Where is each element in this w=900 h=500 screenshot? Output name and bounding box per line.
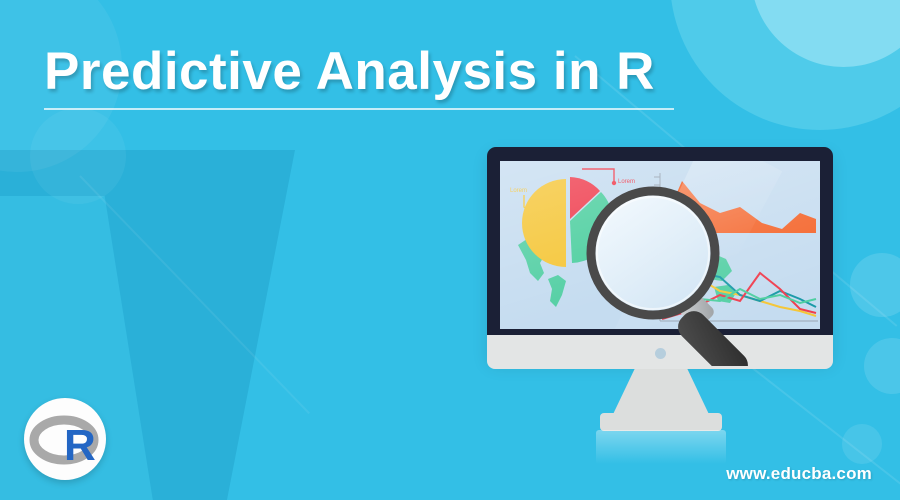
pie-label-top: Lorem (618, 179, 635, 185)
promo-banner: Predictive Analysis in R (0, 0, 900, 500)
r-logo-letter: R (64, 421, 96, 470)
site-url[interactable]: www.educba.com (726, 464, 872, 484)
headline-block: Predictive Analysis in R (44, 42, 724, 110)
monitor-reflection (596, 430, 726, 464)
monitor-stand-base (600, 413, 722, 431)
decorative-circle-right-b (864, 338, 900, 394)
title-underline (44, 108, 674, 110)
pie-label-left: Lorem (510, 188, 527, 194)
page-title: Predictive Analysis in R (44, 42, 724, 101)
r-logo-mark: R (24, 398, 106, 480)
magnifying-glass[interactable] (586, 186, 806, 366)
r-logo[interactable]: R (24, 398, 106, 480)
decorative-circle-left-small (30, 108, 126, 204)
magnifier-lens (595, 195, 711, 311)
